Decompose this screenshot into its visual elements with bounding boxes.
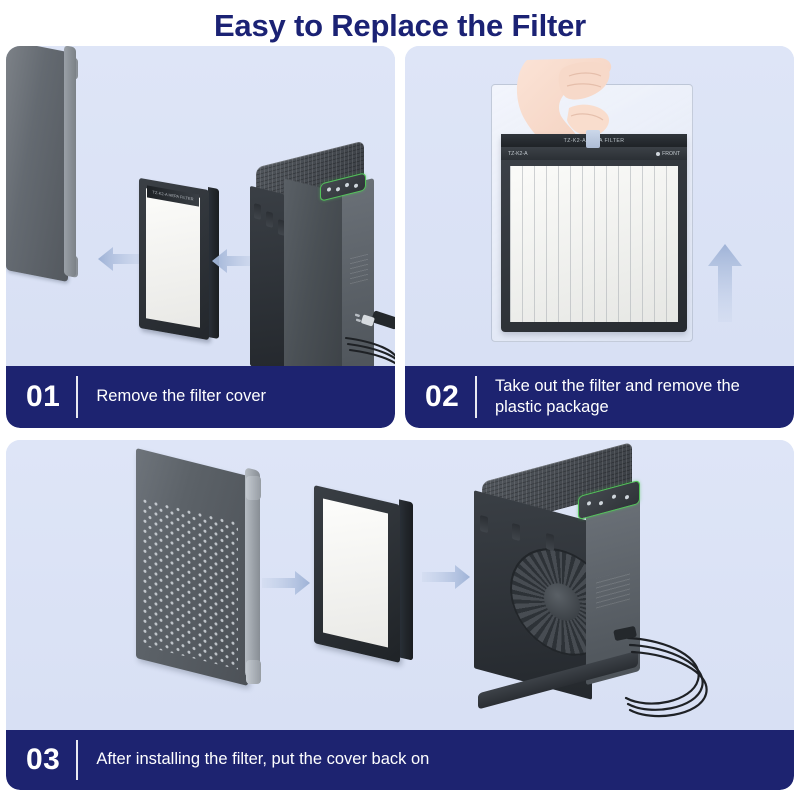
cover-knob-bottom xyxy=(65,253,78,278)
step-card-02: TZ-K2-A HEPA FILTER TZ-K2-A FRONT xyxy=(405,46,794,428)
step-number-03: 03 xyxy=(6,745,76,775)
filter-front-label: FRONT xyxy=(662,151,680,157)
filter-model-label: TZ-K2-A xyxy=(508,151,528,157)
steps-row-top: TZ-K2-A HEPA FILTER xyxy=(0,46,800,428)
cover-knob-bottom xyxy=(246,660,261,684)
step-text-03: After installing the filter, put the cov… xyxy=(78,749,443,770)
filter-front-marker: FRONT xyxy=(656,151,680,157)
purifier-slot-1 xyxy=(254,203,261,220)
step-card-01: TZ-K2-A HEPA FILTER xyxy=(6,46,395,428)
power-cord xyxy=(336,308,395,366)
control-dot-4 xyxy=(625,495,629,500)
purifier-slot-2 xyxy=(266,211,273,228)
caption-divider xyxy=(475,376,477,418)
power-cord xyxy=(612,618,720,726)
package-tab xyxy=(586,130,600,148)
step-number-02: 02 xyxy=(405,382,475,412)
caption-divider xyxy=(76,740,78,780)
perforated-filter-cover xyxy=(136,448,248,686)
page-title: Easy to Replace the Filter xyxy=(0,0,800,46)
hepa-filter: TZ-K2-A HEPA FILTER xyxy=(139,184,209,334)
purifier-vents xyxy=(350,254,368,284)
purifier-slot-2 xyxy=(512,523,520,541)
hepa-filter-media xyxy=(146,188,200,328)
arrow-right-purifier-icon xyxy=(422,562,470,592)
step-caption-02: 02 Take out the filter and remove the pl… xyxy=(405,366,794,428)
filter-media xyxy=(510,166,678,322)
control-dot-1 xyxy=(587,501,591,506)
arrow-right-install-icon xyxy=(262,568,310,598)
control-dot-3 xyxy=(612,494,616,499)
control-dot-3 xyxy=(345,183,349,188)
infographic-page: Easy to Replace the Filter xyxy=(0,0,800,800)
filter-sub-band: TZ-K2-A FRONT xyxy=(501,147,687,160)
step-caption-03: 03 After installing the filter, put the … xyxy=(6,730,794,790)
control-dot-1 xyxy=(327,187,331,192)
front-dot-icon xyxy=(656,152,660,156)
step-2-illustration: TZ-K2-A HEPA FILTER TZ-K2-A FRONT xyxy=(405,46,794,366)
purifier-slot-1 xyxy=(480,515,488,533)
caption-divider xyxy=(76,376,78,418)
plug xyxy=(355,310,395,329)
hepa-filter: TZ-K2-A HEPA FILTER TZ-K2-A FRONT xyxy=(501,134,687,332)
cover-perforations xyxy=(142,498,238,670)
step-card-03: 03 After installing the filter, put the … xyxy=(6,440,794,790)
step-1-illustration: TZ-K2-A HEPA FILTER xyxy=(6,46,395,366)
cover-knob-top xyxy=(246,476,261,500)
steps-row-bottom: 03 After installing the filter, put the … xyxy=(0,440,800,790)
step-number-01: 01 xyxy=(6,382,76,412)
cover-knob-top xyxy=(65,55,78,80)
purifier-front-body xyxy=(284,179,344,366)
control-dot-2 xyxy=(336,187,340,192)
step-text-01: Remove the filter cover xyxy=(78,386,280,407)
hepa-filter-side xyxy=(399,499,413,660)
step-caption-01: 01 Remove the filter cover xyxy=(6,366,395,428)
step-3-illustration xyxy=(6,440,794,730)
hepa-filter-media xyxy=(323,498,388,647)
filter-cover xyxy=(6,46,68,282)
arrow-up-filter-icon xyxy=(705,244,745,322)
control-dot-4 xyxy=(354,183,358,188)
step-text-02: Take out the filter and remove the plast… xyxy=(477,376,794,419)
control-dot-2 xyxy=(599,501,603,506)
purifier-slot-3 xyxy=(546,533,554,551)
hepa-filter xyxy=(314,495,400,653)
